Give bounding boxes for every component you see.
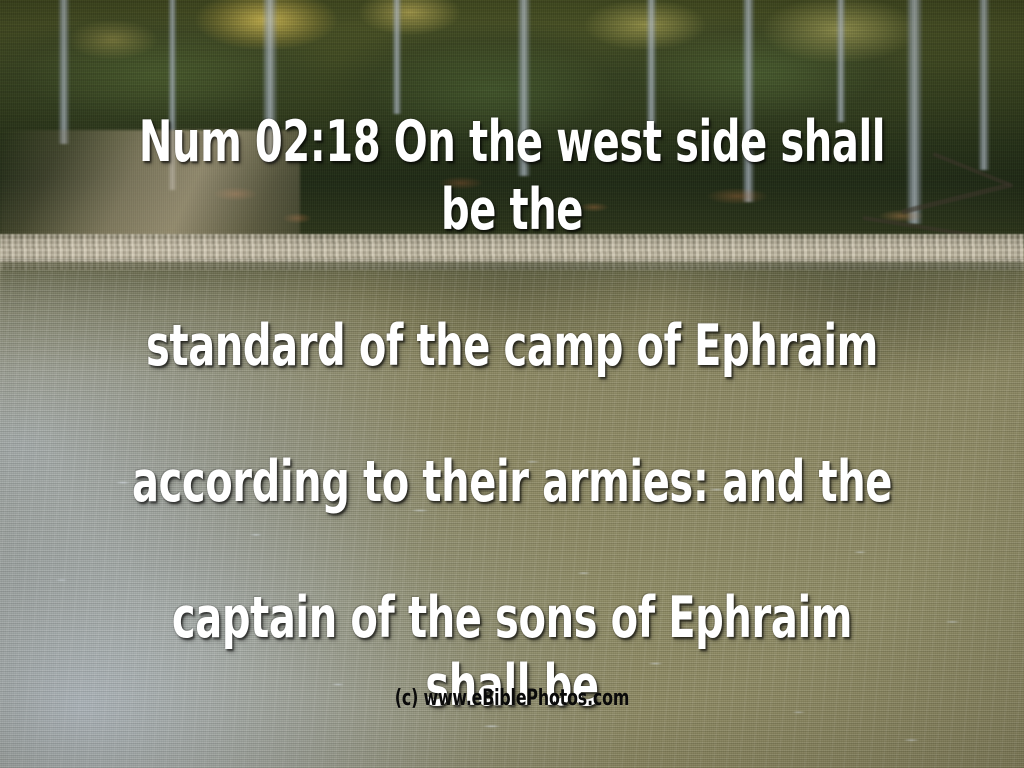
tree-trunk-icon bbox=[978, 0, 990, 170]
verse-line: standard of the camp of Ephraim bbox=[124, 312, 901, 380]
verse-photo-canvas: Num 02:18 On the west side shall be the … bbox=[0, 0, 1024, 768]
tree-trunk-icon bbox=[58, 0, 70, 144]
copyright-watermark: (c) www.eBiblePhotos.com bbox=[102, 688, 921, 710]
verse-line: Num 02:18 On the west side shall be the bbox=[124, 108, 901, 244]
verse-overlay-text: Num 02:18 On the west side shall be the … bbox=[113, 40, 912, 768]
verse-line: according to their armies: and the bbox=[124, 448, 901, 516]
